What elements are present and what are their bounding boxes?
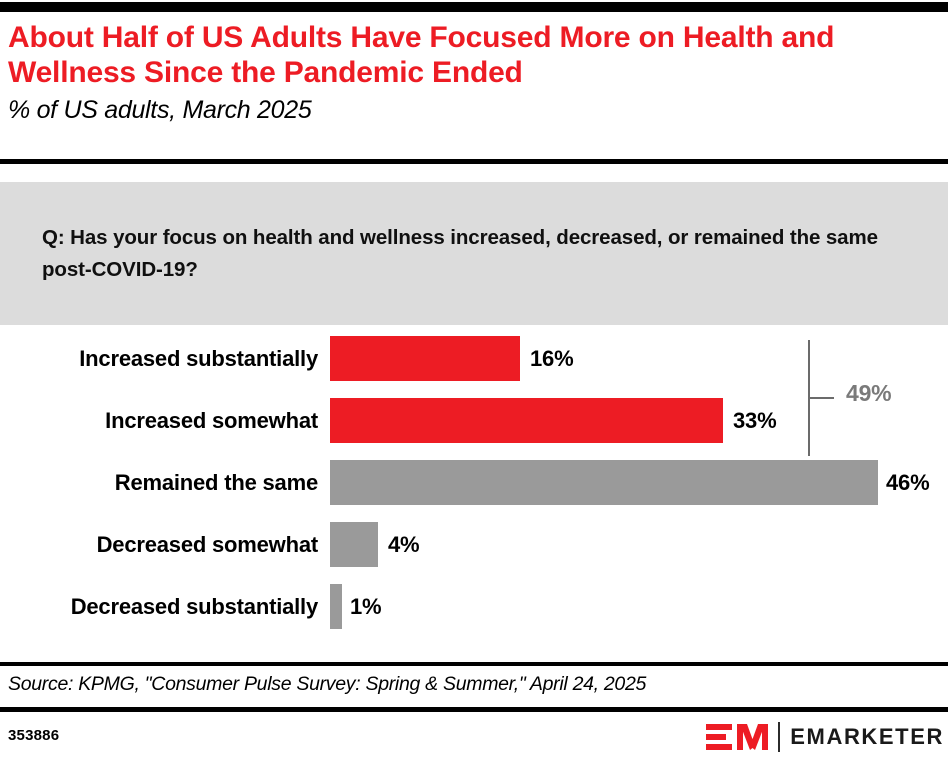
bracket-total-label: 49% xyxy=(846,380,891,407)
chart-title: About Half of US Adults Have Focused Mor… xyxy=(8,20,940,91)
chart-card: About Half of US Adults Have Focused Mor… xyxy=(0,0,948,760)
source-divider-bottom xyxy=(0,707,948,712)
bar-category-label: Increased somewhat xyxy=(105,398,318,443)
source-divider-top xyxy=(0,662,948,666)
header-divider xyxy=(0,159,948,164)
bar-category-label: Remained the same xyxy=(115,460,318,505)
logo-divider xyxy=(778,722,780,752)
top-rule xyxy=(0,2,948,12)
survey-question-text: Q: Has your focus on health and wellness… xyxy=(0,222,948,286)
em-monogram-icon xyxy=(706,721,770,753)
bar-value-label: 1% xyxy=(350,584,381,629)
bar-row: Remained the same 46% xyxy=(0,460,948,505)
chart-id: 353886 xyxy=(8,727,59,744)
chart-header: About Half of US Adults Have Focused Mor… xyxy=(8,20,940,125)
bar-value-label: 46% xyxy=(886,460,929,505)
bar-category-label: Decreased somewhat xyxy=(97,522,318,567)
bar-row: Increased substantially 16% xyxy=(0,336,948,381)
emarketer-logo: EMARKETER xyxy=(706,720,944,754)
bar-decreased-somewhat xyxy=(330,522,378,567)
bar-increased-somewhat xyxy=(330,398,723,443)
bracket-tick xyxy=(808,397,834,399)
source-note: Source: KPMG, "Consumer Pulse Survey: Sp… xyxy=(8,673,646,696)
survey-question-band: Q: Has your focus on health and wellness… xyxy=(0,182,948,325)
bar-row: Increased somewhat 33% xyxy=(0,398,948,443)
bar-value-label: 33% xyxy=(733,398,776,443)
bar-row: Decreased somewhat 4% xyxy=(0,522,948,567)
bar-value-label: 16% xyxy=(530,336,573,381)
bar-increased-substantially xyxy=(330,336,520,381)
combined-total-bracket: 49% xyxy=(808,340,948,456)
bar-decreased-substantially xyxy=(330,584,342,629)
bar-row: Decreased substantially 1% xyxy=(0,584,948,629)
logo-wordmark: EMARKETER xyxy=(790,724,944,750)
bar-chart-plot: Increased substantially 16% Increased so… xyxy=(0,336,948,656)
bar-category-label: Increased substantially xyxy=(79,336,318,381)
bar-value-label: 4% xyxy=(388,522,419,567)
bar-remained-the-same xyxy=(330,460,878,505)
chart-subtitle: % of US adults, March 2025 xyxy=(8,96,940,125)
bar-category-label: Decreased substantially xyxy=(71,584,318,629)
